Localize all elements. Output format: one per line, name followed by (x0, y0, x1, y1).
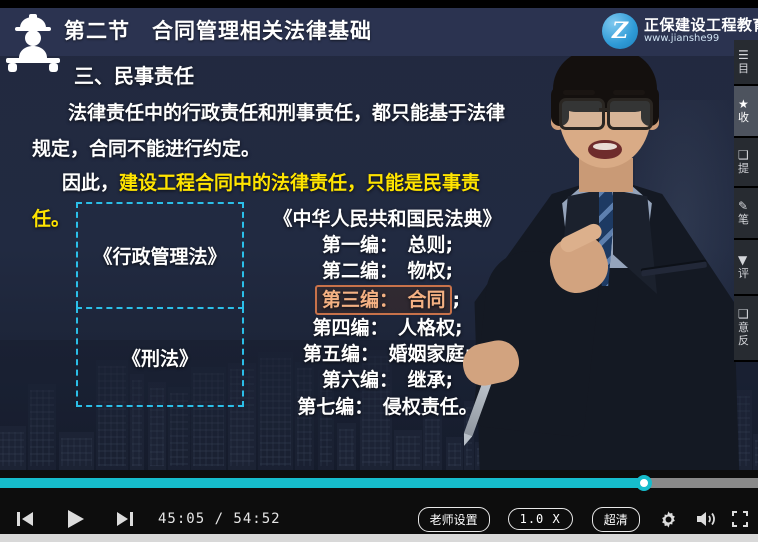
conclusion-highlight: 建设工程合同中的法律责任，只能是民事责 (119, 172, 480, 194)
pencil-icon: ✎ (738, 200, 748, 214)
sidebar-item-pencil[interactable]: ✎笔 (734, 188, 758, 240)
sidebar-item-label: 目 (738, 63, 749, 76)
sidebar-item-label: 收 (738, 112, 749, 125)
civil-code-item-text: 第六编： 继承; (322, 369, 453, 391)
question-icon: ❑ (738, 149, 749, 163)
right-sidebar[interactable]: ☰目★收❑提✎笔▼评❑意反 (734, 40, 758, 362)
top-black-band (0, 0, 758, 8)
volume-button[interactable] (696, 509, 718, 529)
progress-handle[interactable] (636, 475, 652, 491)
comment-icon: ▼ (738, 254, 747, 268)
conclusion-prefix: 因此， (62, 172, 119, 194)
presenter-brow-right (613, 90, 645, 95)
list-icon: ☰ (738, 49, 749, 63)
sidebar-item-label-2: 反 (738, 335, 749, 348)
sidebar-item-list[interactable]: ☰目 (734, 40, 758, 86)
progress-bar[interactable] (0, 478, 758, 488)
civil-code-item-text: 第五编： 婚姻家庭; (303, 343, 472, 365)
glasses-bridge (599, 108, 609, 111)
sidebar-item-label: 提 (738, 163, 749, 176)
sidebar-item-question[interactable]: ❑提 (734, 138, 758, 188)
quality-button[interactable]: 超清 (592, 507, 640, 532)
gear-icon (659, 510, 678, 529)
diagram-box-criminal-law: 《刑法》 (76, 307, 244, 407)
video-player-page: 三、民事责任 法律责任中的行政责任和刑事责任，都只能基于法律 规定，合同不能进行… (0, 0, 758, 542)
fullscreen-button[interactable] (731, 510, 749, 528)
player-controls: 45:05 / 54:52 老师设置 1.0 X 超清 (0, 470, 758, 542)
sidebar-item-label: 笔 (738, 214, 749, 227)
sidebar-item-star[interactable]: ★收 (734, 86, 758, 138)
playback-speed-button[interactable]: 1.0 X (508, 508, 573, 530)
construction-worker-icon (6, 10, 60, 72)
civil-code-item-marked: 第三编： 合同 (315, 285, 453, 315)
slide-paragraph-1: 法律责任中的行政责任和刑事责任，都只能基于法律 (68, 98, 505, 125)
progress-fill (0, 478, 644, 488)
fullscreen-icon (732, 511, 748, 527)
time-display: 45:05 / 54:52 (158, 511, 281, 527)
presenter-figure (455, 40, 755, 470)
volume-icon (696, 510, 717, 528)
sidebar-item-label: 意 (738, 322, 749, 335)
video-stage[interactable]: 三、民事责任 法律责任中的行政责任和刑事责任，都只能基于法律 规定，合同不能进行… (0, 0, 758, 470)
slide-conclusion-line-1: 因此，建设工程合同中的法律责任，只能是民事责 (62, 168, 480, 195)
sidebar-item-feedback[interactable]: ❑意反 (734, 296, 758, 362)
sidebar-item-label: 评 (738, 268, 749, 281)
teacher-settings-button[interactable]: 老师设置 (418, 507, 490, 532)
brand-mark-icon: Z (602, 13, 638, 49)
brand-name: 正保建设工程教育 (644, 18, 758, 34)
diagram-box-administrative-law: 《行政管理法》 (76, 202, 244, 307)
play-button[interactable] (62, 506, 88, 532)
slide-heading: 三、民事责任 (74, 60, 194, 89)
slide-conclusion-line-2: 任。 (32, 204, 70, 231)
civil-code-item-text: 第四编： 人格权; (312, 317, 462, 339)
glasses-lens-left (559, 98, 605, 130)
presenter-brow-left (563, 90, 595, 95)
slide-paragraph-2: 规定，合同不能进行约定。 (32, 134, 260, 161)
glasses-lens-right (607, 98, 653, 130)
sidebar-item-comment[interactable]: ▼评 (734, 240, 758, 296)
civil-code-item-text: 第一编： 总则; (322, 234, 453, 256)
next-button[interactable] (114, 508, 136, 530)
civil-code-item-text: 第七编： 侵权责任。 (297, 396, 478, 418)
previous-button[interactable] (14, 508, 36, 530)
next-icon (116, 511, 134, 527)
presenter-mouth (588, 140, 622, 159)
civil-code-item-text: 第二编： 物权; (322, 260, 453, 282)
previous-icon (16, 511, 34, 527)
star-icon: ★ (738, 98, 749, 112)
settings-button[interactable] (659, 509, 679, 529)
page-title: 第二节 合同管理相关法律基础 (64, 15, 372, 45)
bottom-strip (0, 534, 758, 542)
play-icon (64, 508, 86, 530)
